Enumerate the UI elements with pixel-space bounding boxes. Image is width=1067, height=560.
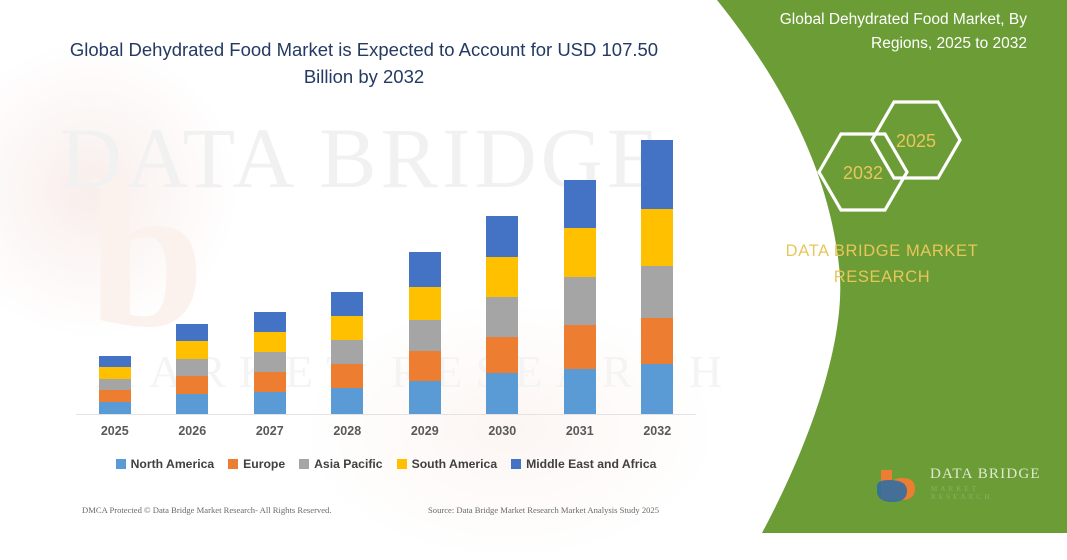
bar-segment[interactable]: [254, 312, 286, 332]
bar-segment[interactable]: [486, 216, 518, 257]
bar-segment[interactable]: [176, 394, 208, 414]
x-axis-label: 2030: [464, 424, 542, 438]
legend-item[interactable]: North America: [116, 457, 215, 471]
x-axis-label: 2029: [386, 424, 464, 438]
bar-segment[interactable]: [641, 318, 673, 364]
stacked-bar[interactable]: [331, 292, 363, 414]
dbmr-logo-name: DATA BRIDGE: [930, 466, 1041, 483]
brand-line-2: RESEARCH: [737, 264, 1027, 290]
bar-segment[interactable]: [564, 277, 596, 325]
bar-slot: [386, 110, 464, 414]
bar-segment[interactable]: [486, 297, 518, 337]
legend-swatch: [397, 459, 407, 469]
x-axis-label: 2032: [619, 424, 697, 438]
legend-label: Europe: [243, 457, 285, 471]
bar-segment[interactable]: [331, 292, 363, 316]
bar-segment[interactable]: [641, 266, 673, 318]
x-axis-label: 2028: [309, 424, 387, 438]
bar-segment[interactable]: [409, 287, 441, 320]
stacked-bar[interactable]: [409, 252, 441, 414]
bar-slot: [541, 110, 619, 414]
bar-slot: [231, 110, 309, 414]
x-axis-label: 2027: [231, 424, 309, 438]
stacked-bar[interactable]: [254, 312, 286, 414]
bar-segment[interactable]: [176, 359, 208, 376]
page-title: Global Dehydrated Food Market is Expecte…: [60, 36, 668, 90]
legend-item[interactable]: Middle East and Africa: [511, 457, 656, 471]
stacked-bar[interactable]: [641, 140, 673, 414]
dbmr-logo-mark: [875, 460, 927, 506]
bar-segment[interactable]: [409, 252, 441, 287]
bar-segment[interactable]: [564, 180, 596, 228]
bar-segment[interactable]: [409, 381, 441, 414]
footer-copyright: DMCA Protected © Data Bridge Market Rese…: [82, 505, 332, 515]
bar-segment[interactable]: [641, 140, 673, 209]
x-axis-labels: 20252026202720282029203020312032: [76, 424, 696, 438]
bar-slot: [154, 110, 232, 414]
legend-label: Middle East and Africa: [526, 457, 656, 471]
bar-segment[interactable]: [486, 257, 518, 297]
legend-label: South America: [412, 457, 498, 471]
bar-segment[interactable]: [254, 372, 286, 392]
chart-legend: North AmericaEuropeAsia PacificSouth Ame…: [76, 457, 696, 471]
bar-segment[interactable]: [99, 402, 131, 414]
legend-swatch: [116, 459, 126, 469]
bar-segment[interactable]: [99, 390, 131, 402]
brand-name: DATA BRIDGE MARKET RESEARCH: [737, 238, 1027, 290]
bar-segment[interactable]: [409, 320, 441, 351]
legend-label: Asia Pacific: [314, 457, 382, 471]
dbmr-logo-tagline: MARKET RESEARCH: [931, 485, 1045, 501]
infographic-canvas: b DATA BRIDGE MARKET RESEARCH Global Deh…: [0, 0, 1067, 533]
legend-item[interactable]: Asia Pacific: [299, 457, 382, 471]
bar-segment[interactable]: [176, 324, 208, 341]
legend-swatch: [228, 459, 238, 469]
bar-segment[interactable]: [331, 364, 363, 388]
bar-segment[interactable]: [564, 228, 596, 277]
bar-slot: [464, 110, 542, 414]
footer: DMCA Protected © Data Bridge Market Rese…: [0, 505, 700, 525]
bar-segment[interactable]: [99, 356, 131, 367]
bar-segment[interactable]: [99, 367, 131, 379]
stacked-bar[interactable]: [564, 180, 596, 414]
green-panel-title: Global Dehydrated Food Market, By Region…: [737, 8, 1027, 56]
bar-segment[interactable]: [176, 376, 208, 394]
legend-item[interactable]: South America: [397, 457, 498, 471]
bar-segment[interactable]: [486, 337, 518, 373]
bar-slot: [309, 110, 387, 414]
bar-segment[interactable]: [486, 373, 518, 414]
footer-source: Source: Data Bridge Market Research Mark…: [428, 505, 659, 515]
legend-label: North America: [131, 457, 215, 471]
stacked-bar[interactable]: [176, 324, 208, 414]
bar-segment[interactable]: [331, 340, 363, 364]
bar-segment[interactable]: [564, 325, 596, 369]
stacked-bar[interactable]: [99, 356, 131, 414]
chart-bars: [76, 110, 696, 414]
legend-swatch: [299, 459, 309, 469]
x-axis-line: [76, 414, 696, 415]
bar-segment[interactable]: [99, 379, 131, 390]
bar-segment[interactable]: [254, 392, 286, 414]
bar-slot: [619, 110, 697, 414]
bar-segment[interactable]: [564, 369, 596, 414]
dbmr-logo: DATA BRIDGE MARKET RESEARCH: [875, 460, 1045, 508]
bar-segment[interactable]: [331, 316, 363, 340]
x-axis-label: 2025: [76, 424, 154, 438]
brand-line-1: DATA BRIDGE MARKET: [737, 238, 1027, 264]
x-axis-label: 2031: [541, 424, 619, 438]
stacked-bar-chart: [76, 110, 696, 415]
bar-segment[interactable]: [641, 364, 673, 414]
bar-segment[interactable]: [176, 341, 208, 359]
stacked-bar[interactable]: [486, 216, 518, 414]
legend-item[interactable]: Europe: [228, 457, 285, 471]
bar-segment[interactable]: [409, 351, 441, 381]
bar-segment[interactable]: [331, 388, 363, 414]
bar-segment[interactable]: [254, 352, 286, 372]
bar-segment[interactable]: [254, 332, 286, 352]
bar-slot: [76, 110, 154, 414]
bar-segment[interactable]: [641, 209, 673, 266]
x-axis-label: 2026: [154, 424, 232, 438]
legend-swatch: [511, 459, 521, 469]
